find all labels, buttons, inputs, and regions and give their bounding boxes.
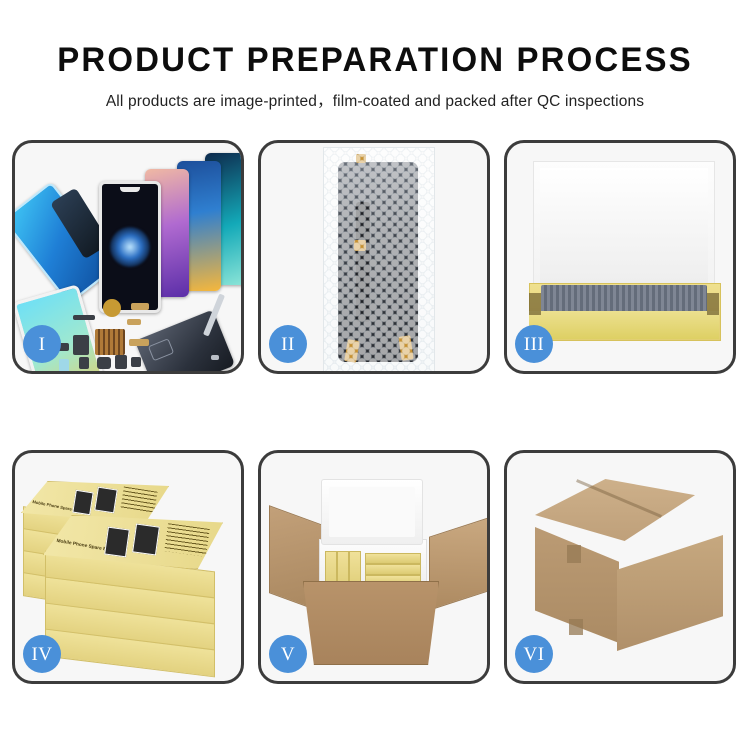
part-button-icon [79,357,89,369]
packed-box-4 [365,553,421,564]
bubble-wrap-bag [323,147,435,374]
box-corner-tab-left-icon [529,293,541,315]
part-screw-tray-icon [95,329,125,355]
process-step-panel-6[interactable]: VI [504,450,736,684]
phone-screen-front-icon [99,181,161,313]
step-badge-5: V [269,635,307,673]
carton-body [303,581,439,665]
part-bracket-icon [73,335,89,355]
process-step-panel-1[interactable]: I [12,140,244,374]
part-glass-icon [59,359,69,374]
process-step-panel-5[interactable]: V [258,450,490,684]
box-print-image-front-2 [132,523,160,555]
step-badge-3: III [515,325,553,363]
page-subtitle: All products are image-printed，film-coat… [0,89,750,111]
page-header: PRODUCT PREPARATION PROCESS All products… [0,0,750,111]
part-flex-cable-2-icon [127,319,141,325]
foam-padding-dark [541,285,707,313]
part-flex-cable-1-icon [131,303,149,310]
bubble-texture-offset [324,148,434,374]
phone-housing-back-icon [135,309,235,374]
part-speaker-icon [103,299,121,317]
step-badge-4: IV [23,635,61,673]
box-lid-white [533,161,715,291]
sealed-carton-right-face [617,535,723,651]
process-step-panel-2[interactable]: II [258,140,490,374]
page-title: PRODUCT PREPARATION PROCESS [11,40,739,80]
process-step-panel-3[interactable]: III [504,140,736,374]
box-tray-front-face [529,311,719,339]
part-camera-icon [97,357,111,369]
box-print-image-front-1 [104,527,130,558]
part-small-chip-icon [131,357,141,367]
sealed-carton-top-face [535,479,695,541]
part-strip-icon [73,315,95,320]
step-badge-6: VI [515,635,553,673]
carton-tape-patch-upper [567,545,581,563]
part-screw-icon [211,355,219,360]
packed-box-5 [365,564,421,575]
process-step-grid: I II III [12,140,738,684]
carton-tape-patch-lower [569,619,583,635]
box-print-image-rear-2 [94,487,118,514]
step-badge-1: I [23,325,61,363]
part-module-icon [115,355,127,369]
box-print-image-rear-1 [72,490,93,516]
carton-flap-right [429,517,489,610]
step-badge-2: II [269,325,307,363]
process-step-panel-4[interactable]: Mobile Phone Spare Parts Mobile Phone Sp… [12,450,244,684]
part-flex-cable-3-icon [129,339,149,346]
foam-box-lid [321,479,423,545]
box-print-text-lines-front [164,523,209,557]
box-corner-tab-right-icon [707,293,719,315]
box-print-text-lines-rear [120,486,157,513]
